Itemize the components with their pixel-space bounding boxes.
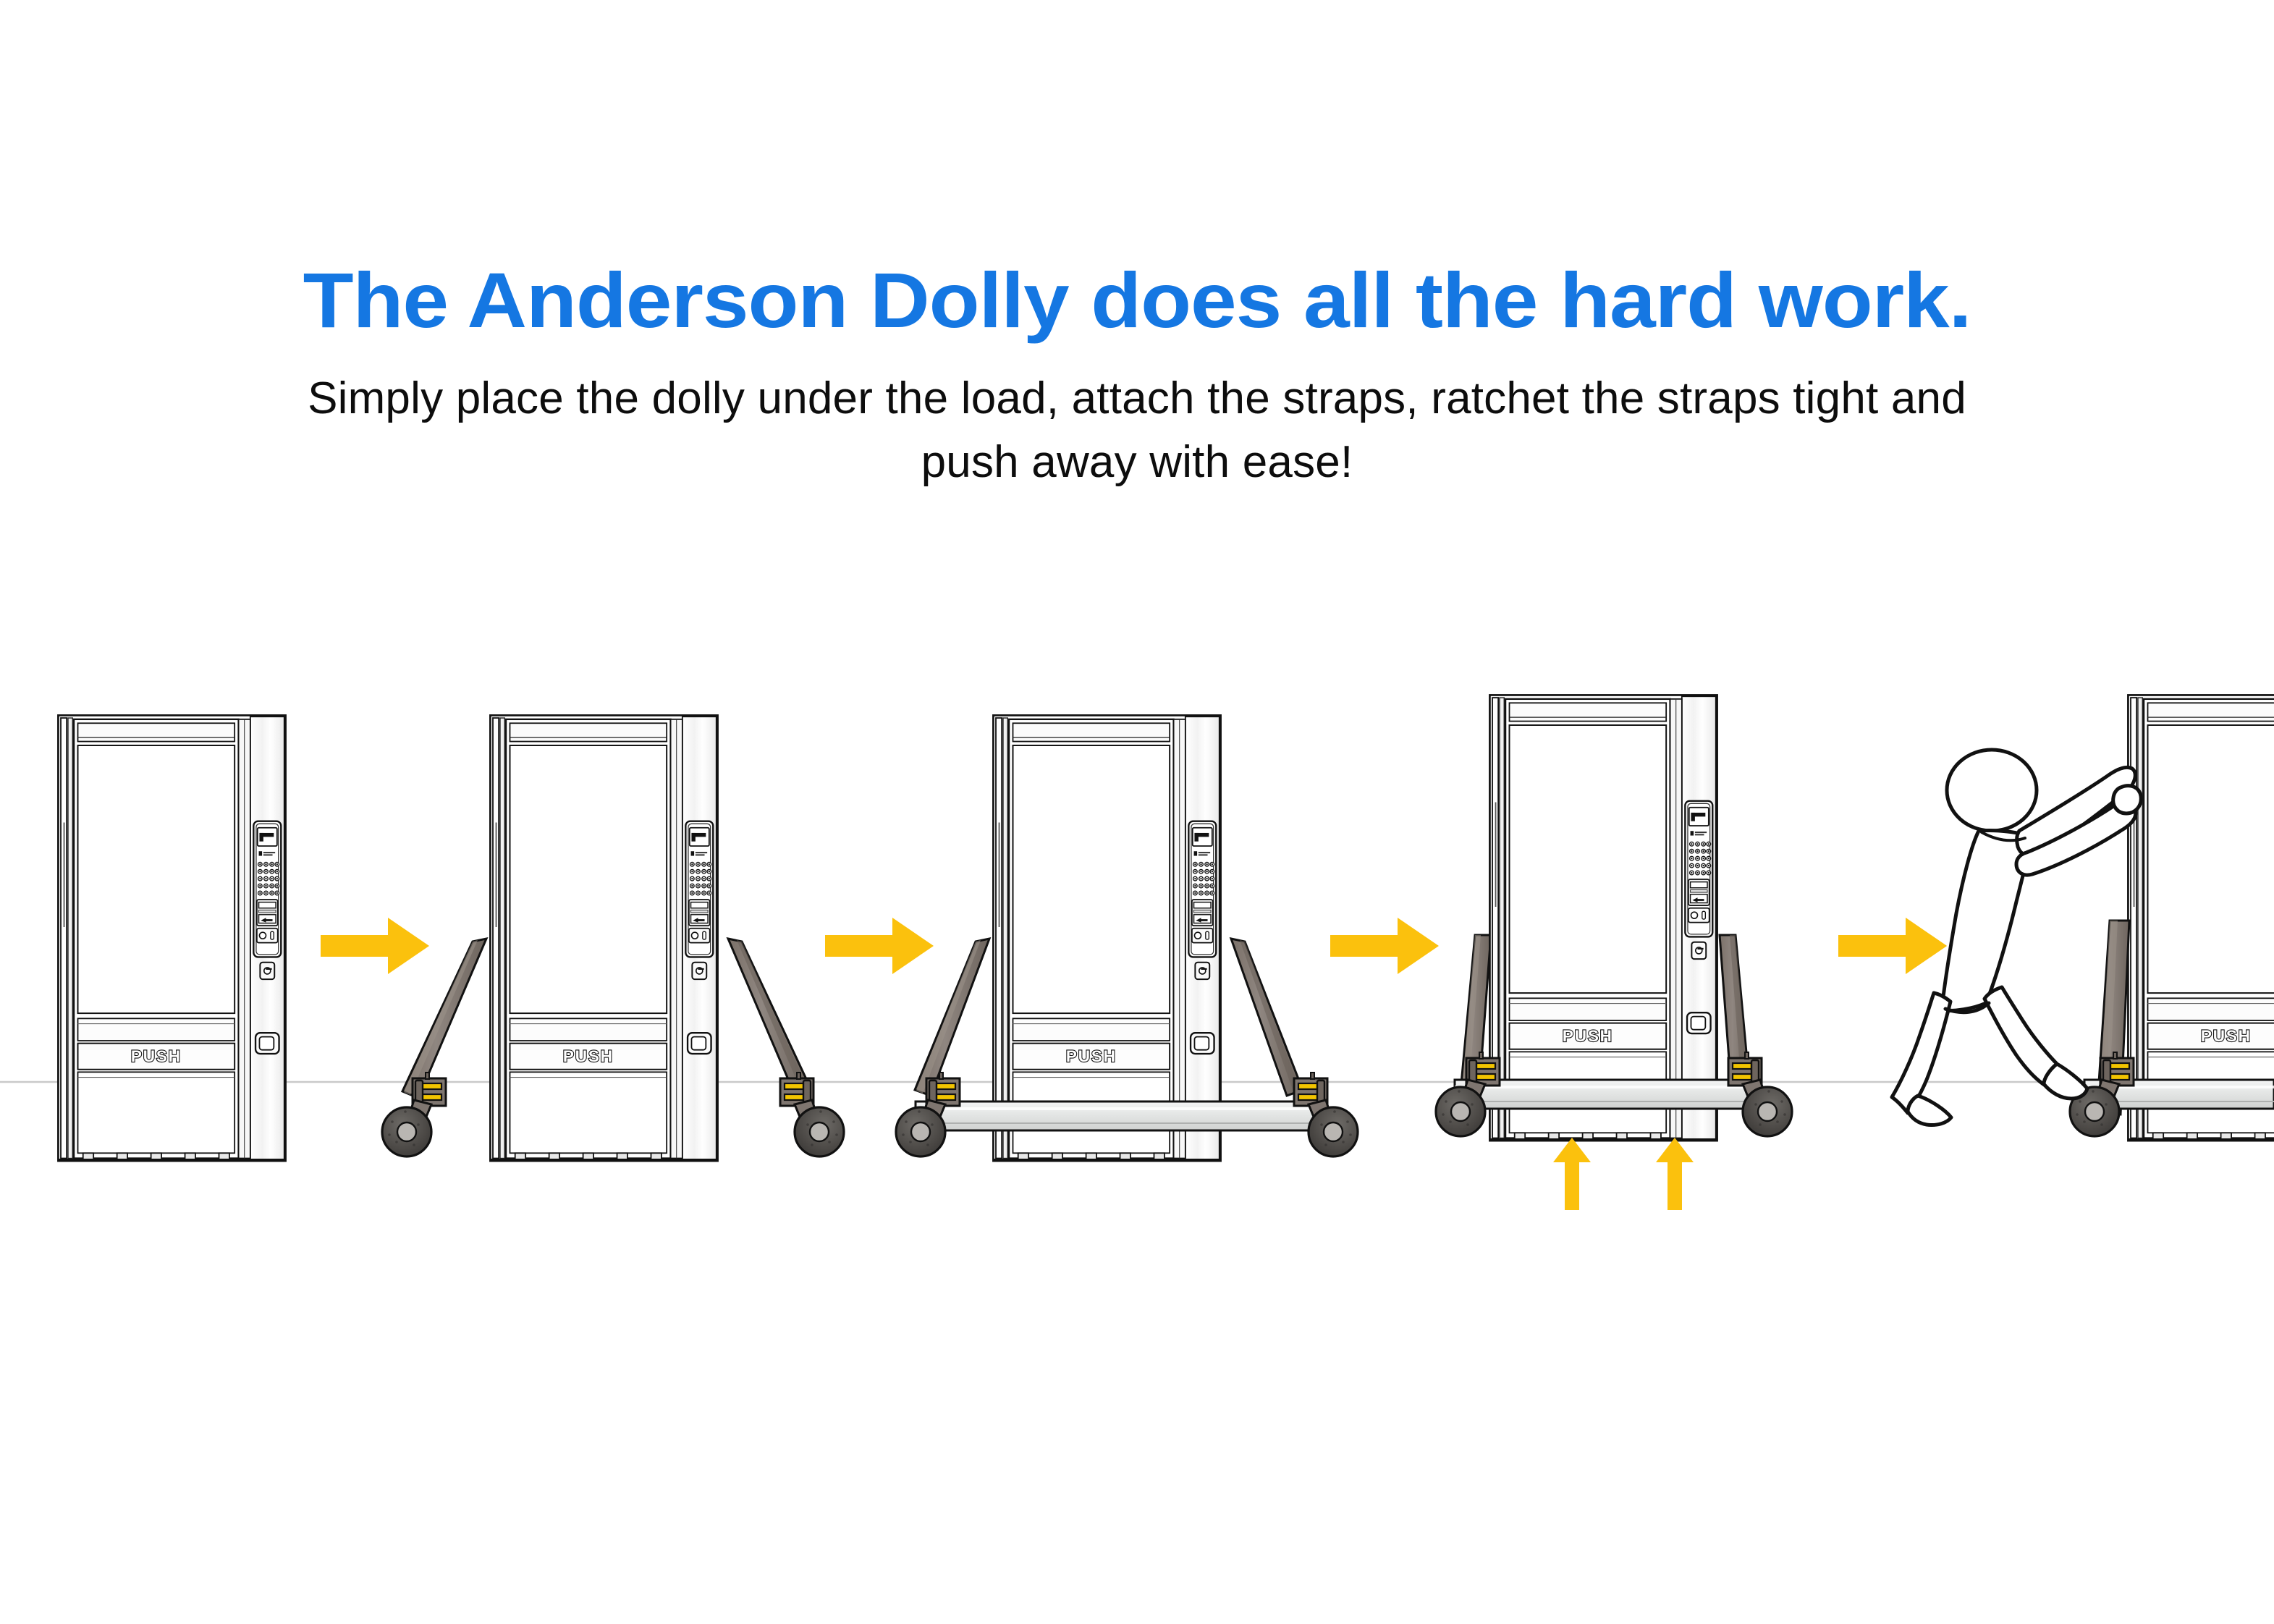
person-hand — [2113, 786, 2142, 813]
caster-left — [382, 1073, 446, 1156]
person-foot-front — [2044, 1064, 2087, 1099]
lift-arrow-left — [1553, 1138, 1591, 1210]
step-arrow-1 — [321, 918, 429, 974]
push-arrow — [1838, 918, 1947, 974]
step-arrow-3 — [1330, 918, 1439, 974]
person-foot-back — [1908, 1096, 1951, 1125]
instruction-sequence: PUSH — [0, 0, 2274, 1624]
vending-machine — [993, 715, 1220, 1161]
sequence-illustration: PUSH — [0, 0, 2274, 1624]
step-4-ratcheted-tight — [1436, 695, 1792, 1210]
step-3-base-bar-attached — [896, 715, 1358, 1161]
strap-left — [915, 939, 989, 1096]
caster-right — [780, 1073, 844, 1156]
vending-machine — [58, 715, 285, 1161]
vending-machine — [1489, 695, 1717, 1141]
vending-machine — [2128, 695, 2274, 1141]
lift-arrow-right — [1656, 1138, 1694, 1210]
base-bar — [916, 1101, 1321, 1130]
step-5-push-away — [1838, 695, 2274, 1141]
strap-left — [402, 939, 486, 1098]
strap-right — [1231, 939, 1303, 1096]
person-head — [1947, 750, 2037, 831]
vending-machine — [490, 715, 717, 1161]
step-arrow-2 — [825, 918, 934, 974]
step-1-machine-alone — [58, 715, 285, 1161]
step-2-straps-placed — [382, 715, 844, 1161]
person-leg-front — [1985, 987, 2058, 1086]
